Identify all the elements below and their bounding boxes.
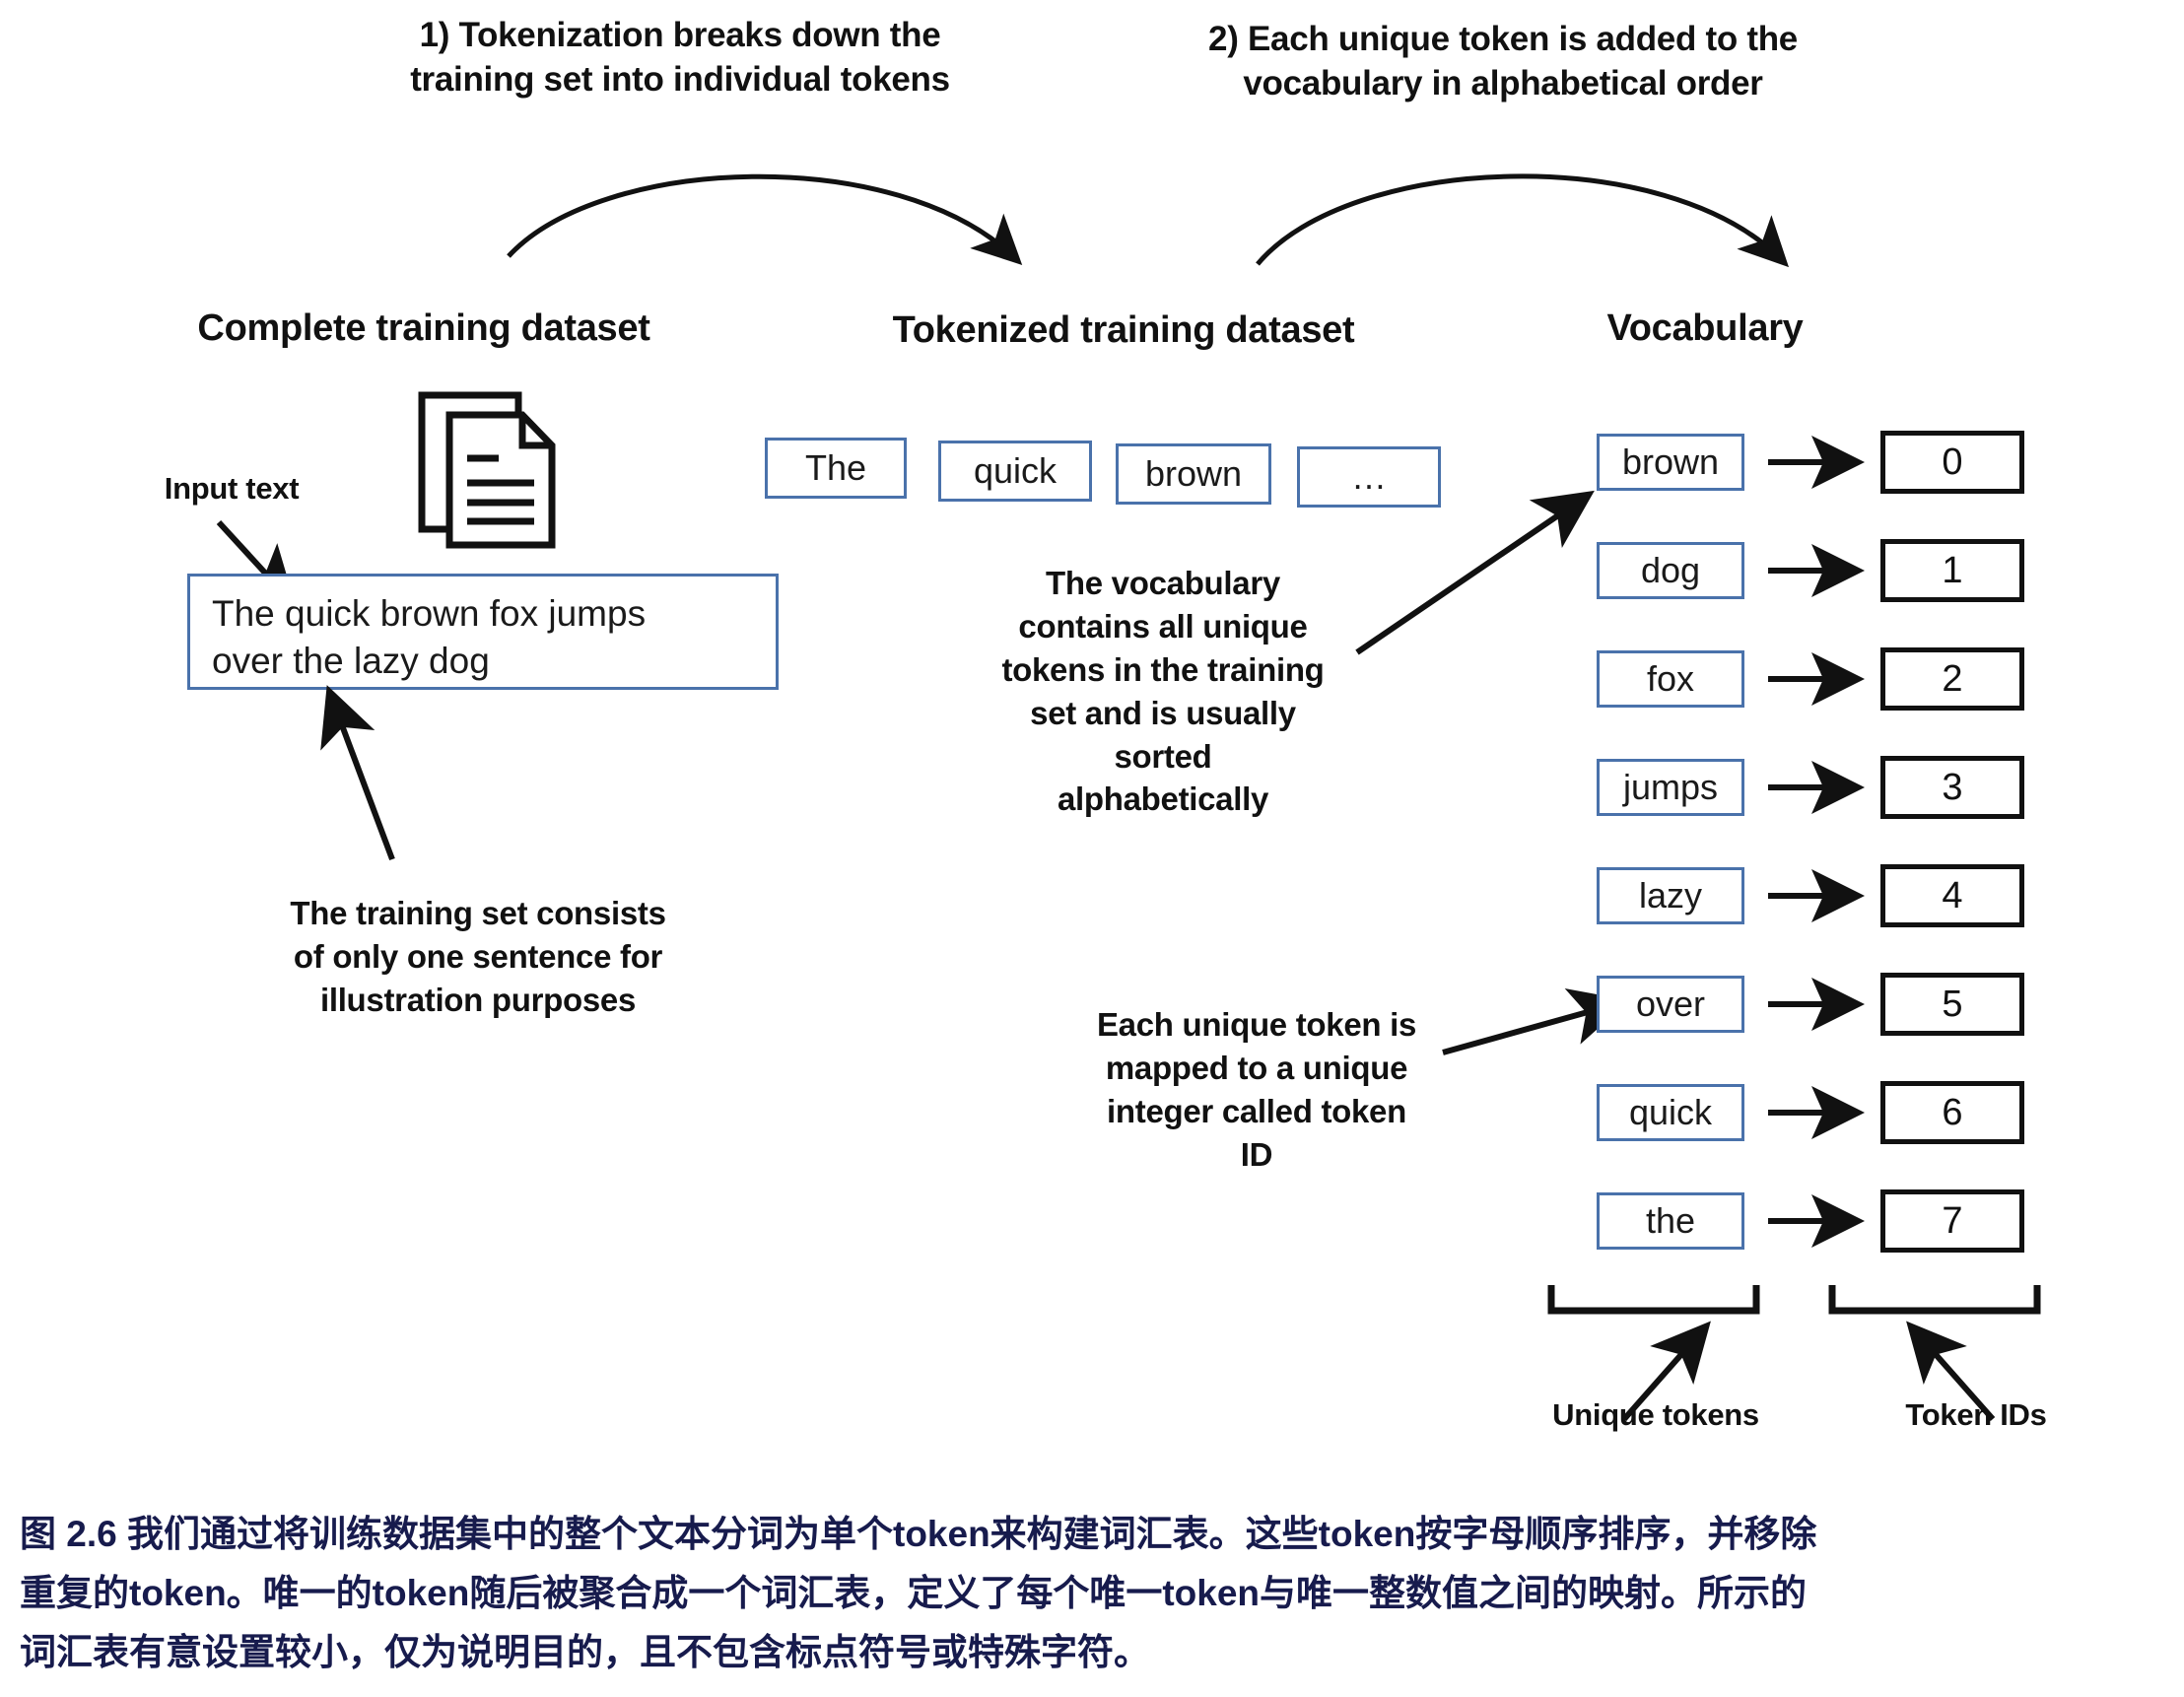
training-set-note: The training set consists of only one se… xyxy=(251,892,705,1022)
vocab-id-box[interactable]: 3 xyxy=(1880,756,2024,819)
step-2-line-2: vocabulary in alphabetical order xyxy=(1197,62,1809,106)
map-arrow-icon xyxy=(1766,991,1865,1017)
vocab-token-box[interactable]: brown xyxy=(1597,434,1744,491)
vocab-note-line-4: set and is usually xyxy=(951,692,1375,735)
column-title-complete-training-dataset: Complete training dataset xyxy=(138,307,710,350)
vocab-note-line-3: tokens in the training xyxy=(951,648,1375,692)
token-id-note-line-3: integer called token xyxy=(1064,1090,1449,1133)
vocab-id-box[interactable]: 6 xyxy=(1880,1081,2024,1144)
map-arrow-icon xyxy=(1766,1208,1865,1234)
input-text-line-1: The quick brown fox jumps xyxy=(212,590,754,638)
vocab-note-line-2: contains all unique xyxy=(951,605,1375,648)
vocab-id-box[interactable]: 5 xyxy=(1880,973,2024,1036)
vocab-token-box[interactable]: lazy xyxy=(1597,867,1744,924)
vocab-token-box[interactable]: over xyxy=(1597,976,1744,1033)
map-arrow-icon xyxy=(1766,883,1865,909)
step-2-heading: 2) Each unique token is added to the voc… xyxy=(1197,18,1809,106)
vocab-token-box[interactable]: the xyxy=(1597,1192,1744,1250)
token-id-note-line-1: Each unique token is xyxy=(1064,1003,1449,1047)
token-chip-quick[interactable]: quick xyxy=(938,441,1092,502)
map-arrow-icon xyxy=(1766,775,1865,800)
training-set-note-arrow xyxy=(315,690,444,867)
step-1-heading: 1) Tokenization breaks down the training… xyxy=(384,14,976,102)
vocab-token-box[interactable]: quick xyxy=(1597,1084,1744,1141)
vocab-note-line-5: sorted xyxy=(951,735,1375,779)
step-1-line-1: 1) Tokenization breaks down the xyxy=(384,14,976,58)
map-arrow-icon xyxy=(1766,449,1865,475)
training-set-note-line-1: The training set consists xyxy=(251,892,705,935)
step-1-line-2: training set into individual tokens xyxy=(384,58,976,102)
vocabulary-note-arrow xyxy=(1335,483,1621,670)
token-id-explanation-note: Each unique token is mapped to a unique … xyxy=(1064,1003,1449,1177)
vocab-note-line-6: alphabetically xyxy=(951,778,1375,821)
figure-caption-line-2: 重复的token。唯一的token随后被聚合成一个词汇表，定义了每个唯一toke… xyxy=(20,1564,2168,1623)
figure-caption: 图 2.6 我们通过将训练数据集中的整个文本分词为单个token来构建词汇表。这… xyxy=(20,1505,2168,1682)
step-2-line-1: 2) Each unique token is added to the xyxy=(1197,18,1809,62)
map-arrow-icon xyxy=(1766,1100,1865,1125)
figure-caption-line-1: 图 2.6 我们通过将训练数据集中的整个文本分词为单个token来构建词汇表。这… xyxy=(20,1505,2168,1564)
vocab-token-box[interactable]: dog xyxy=(1597,542,1744,599)
column-title-tokenized-training-dataset: Tokenized training dataset xyxy=(828,309,1419,352)
vocab-id-box[interactable]: 1 xyxy=(1880,539,2024,602)
vocabulary-rows: brown 0 dog 1 fox 2 jumps 3 lazy 4 over xyxy=(1597,434,2089,1261)
input-text-line-2: over the lazy dog xyxy=(212,638,754,685)
unique-tokens-bracket xyxy=(1547,1281,1764,1321)
column-title-vocabulary: Vocabulary xyxy=(1409,307,2001,350)
vocab-id-box[interactable]: 2 xyxy=(1880,647,2024,711)
vocab-id-box[interactable]: 4 xyxy=(1880,864,2024,927)
training-set-note-line-3: illustration purposes xyxy=(251,979,705,1022)
map-arrow-icon xyxy=(1766,666,1865,692)
vocab-token-box[interactable]: fox xyxy=(1597,650,1744,708)
input-text-label: Input text xyxy=(118,471,345,507)
token-ids-bracket xyxy=(1828,1281,2045,1321)
input-text-box[interactable]: The quick brown fox jumps over the lazy … xyxy=(187,574,779,690)
curved-arrow-step-1 xyxy=(483,148,1055,315)
token-chip-the[interactable]: The xyxy=(765,438,907,499)
map-arrow-icon xyxy=(1766,558,1865,583)
token-ids-label: Token IDs xyxy=(1784,1397,2168,1433)
token-id-note-line-2: mapped to a unique xyxy=(1064,1047,1449,1090)
vocab-note-line-1: The vocabulary xyxy=(951,562,1375,605)
training-set-note-line-2: of only one sentence for xyxy=(251,935,705,979)
vocab-id-box[interactable]: 0 xyxy=(1880,431,2024,494)
figure-caption-line-3: 词汇表有意设置较小，仅为说明目的，且不包含标点符号或特殊字符。 xyxy=(20,1623,2168,1682)
documents-icon xyxy=(414,389,562,552)
token-id-note-line-4: ID xyxy=(1064,1133,1449,1177)
curved-arrow-step-2 xyxy=(1242,148,1833,315)
token-chip-brown[interactable]: brown xyxy=(1116,443,1271,505)
vocab-id-box[interactable]: 7 xyxy=(1880,1189,2024,1253)
vocabulary-explanation-note: The vocabulary contains all unique token… xyxy=(951,562,1375,821)
vocab-token-box[interactable]: jumps xyxy=(1597,759,1744,816)
